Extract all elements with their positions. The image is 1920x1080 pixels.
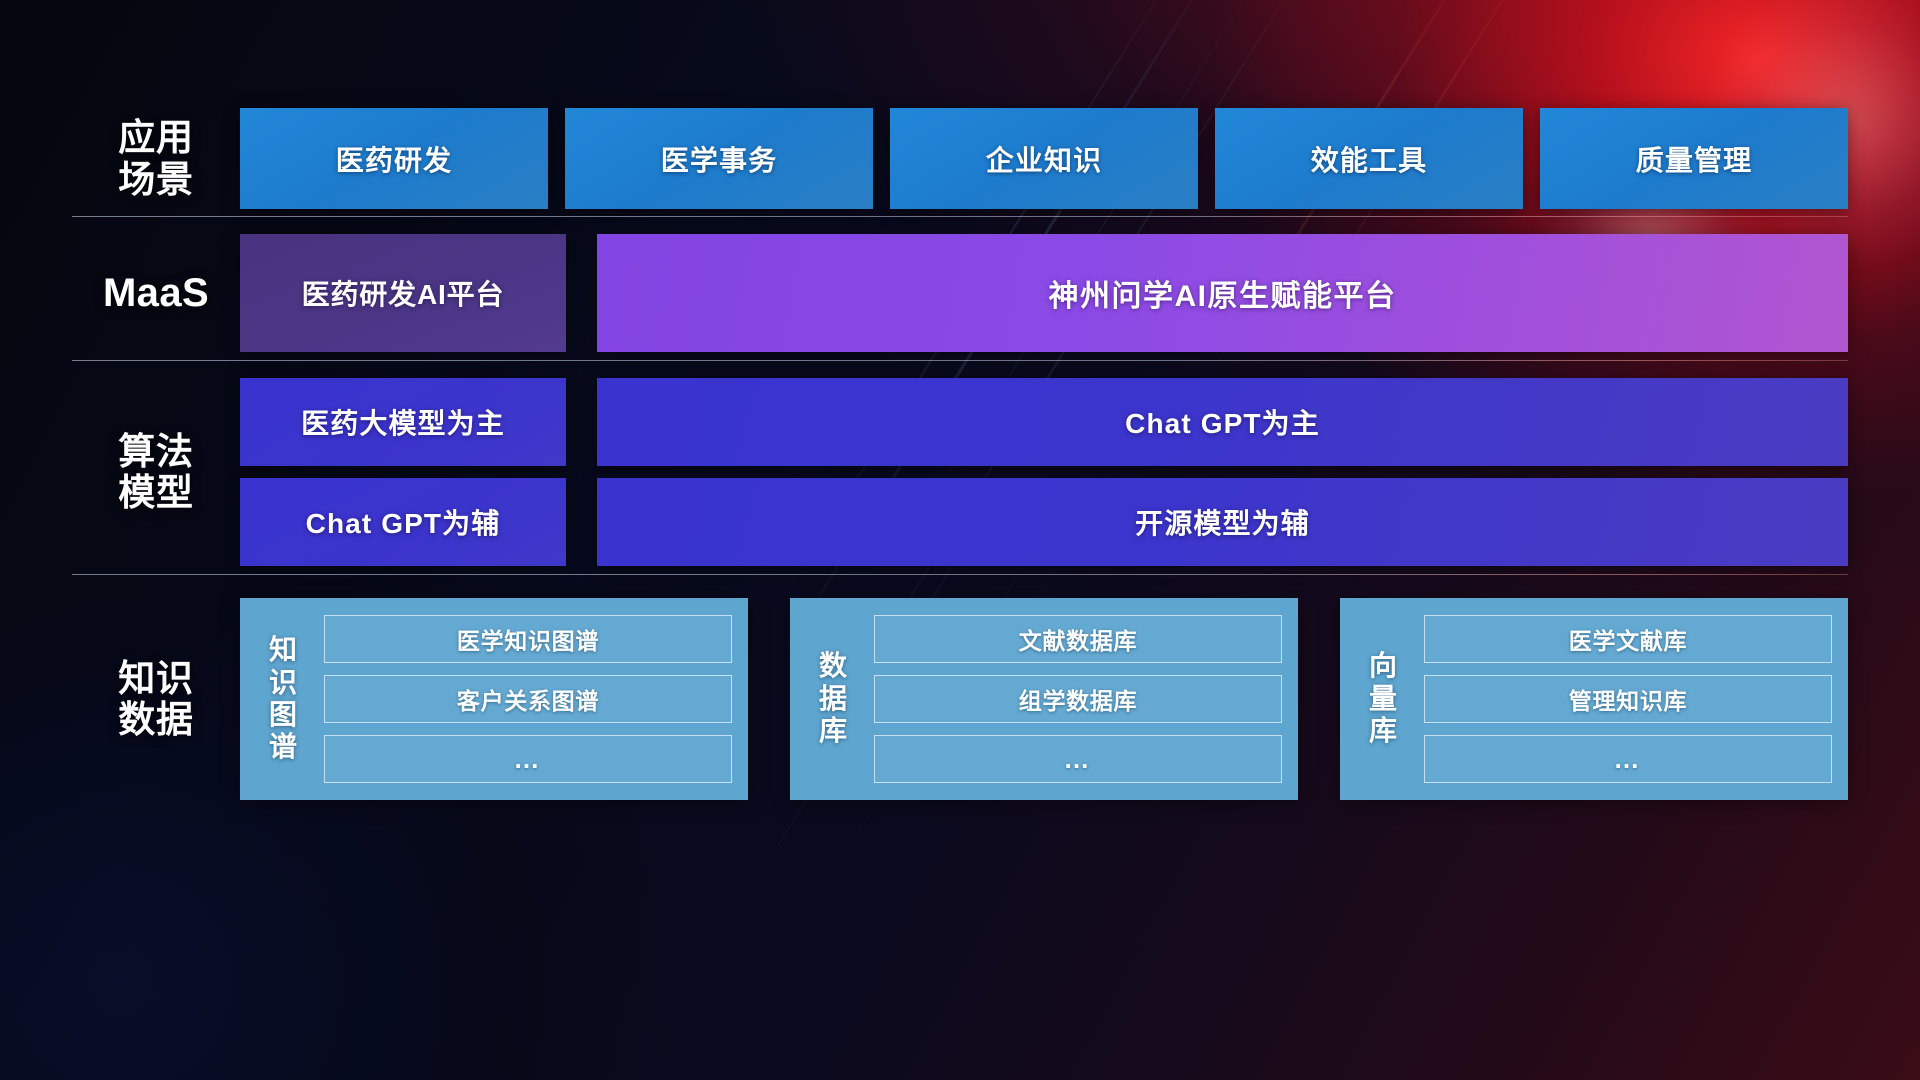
- tier-application-scenarios: 应用 场景 医药研发 医学事务 企业知识 效能工具 质量管理: [72, 108, 1848, 209]
- app-box-efficiency-tools[interactable]: 效能工具: [1215, 108, 1523, 209]
- algorithm-row-primary: 医药大模型为主 Chat GPT为主: [240, 378, 1848, 466]
- knowledge-item-vector-more[interactable]: …: [1424, 735, 1832, 783]
- algo-box-pharma-llm-primary[interactable]: 医药大模型为主: [240, 378, 566, 466]
- knowledge-group-graph-label: 知 识 图 谱: [254, 615, 312, 783]
- divider-after-maas: [72, 360, 1848, 361]
- app-box-quality-management[interactable]: 质量管理: [1540, 108, 1848, 209]
- architecture-diagram: 应用 场景 医药研发 医学事务 企业知识 效能工具 质量管理: [0, 0, 1920, 1080]
- knowledge-item-medical-literature[interactable]: 医学文献库: [1424, 615, 1832, 663]
- knowledge-group-list: 知 识 图 谱 医学知识图谱 客户关系图谱 … 数 据: [240, 598, 1848, 800]
- knowledge-item-omics-db[interactable]: 组学数据库: [874, 675, 1282, 723]
- knowledge-group-vector-label: 向 量 库: [1354, 615, 1412, 783]
- app-box-medicine-rnd[interactable]: 医药研发: [240, 108, 548, 209]
- knowledge-group-database-items: 文献数据库 组学数据库 …: [862, 615, 1282, 783]
- tier-algorithm-models: 算法 模型 医药大模型为主 Chat GPT为主 Chat: [72, 378, 1848, 566]
- maas-box-shenzhou-wenxue-platform[interactable]: 神州问学AI原生赋能平台: [597, 234, 1848, 352]
- maas-box-pharma-ai-platform[interactable]: 医药研发AI平台: [240, 234, 566, 352]
- tier-maas: MaaS 医药研发AI平台 神州问学AI原生赋能平台: [72, 234, 1848, 352]
- divider-after-algorithm: [72, 574, 1848, 575]
- tier-label-knowledge: 知识 数据: [72, 658, 240, 741]
- maas-box-list: 医药研发AI平台 神州问学AI原生赋能平台: [240, 234, 1848, 352]
- knowledge-item-customer-graph[interactable]: 客户关系图谱: [324, 675, 732, 723]
- divider-after-application: [72, 216, 1848, 217]
- application-box-list: 医药研发 医学事务 企业知识 效能工具 质量管理: [240, 108, 1848, 209]
- algo-box-opensource-secondary[interactable]: 开源模型为辅: [597, 478, 1848, 566]
- knowledge-item-literature-db[interactable]: 文献数据库: [874, 615, 1282, 663]
- tier-label-algorithm: 算法 模型: [72, 431, 240, 514]
- tier-label-maas: MaaS: [72, 271, 240, 316]
- knowledge-group-vector: 向 量 库 医学文献库 管理知识库 …: [1340, 598, 1848, 800]
- knowledge-group-vector-items: 医学文献库 管理知识库 …: [1412, 615, 1832, 783]
- algo-box-chatgpt-secondary[interactable]: Chat GPT为辅: [240, 478, 566, 566]
- knowledge-item-medical-graph[interactable]: 医学知识图谱: [324, 615, 732, 663]
- algorithm-row-secondary: Chat GPT为辅 开源模型为辅: [240, 478, 1848, 566]
- knowledge-group-database: 数 据 库 文献数据库 组学数据库 …: [790, 598, 1298, 800]
- knowledge-group-database-label: 数 据 库: [804, 615, 862, 783]
- tier-knowledge-data: 知识 数据 知 识 图 谱 医学知识图谱 客户关系图谱 …: [72, 598, 1848, 800]
- app-box-enterprise-knowledge[interactable]: 企业知识: [890, 108, 1198, 209]
- knowledge-item-database-more[interactable]: …: [874, 735, 1282, 783]
- knowledge-group-graph: 知 识 图 谱 医学知识图谱 客户关系图谱 …: [240, 598, 748, 800]
- algo-box-chatgpt-primary[interactable]: Chat GPT为主: [597, 378, 1848, 466]
- tier-label-application: 应用 场景: [72, 117, 240, 200]
- algorithm-box-list: 医药大模型为主 Chat GPT为主 Chat GPT为辅 开源模型为辅: [240, 378, 1848, 566]
- app-box-medical-affairs[interactable]: 医学事务: [565, 108, 873, 209]
- knowledge-item-management-knowledge[interactable]: 管理知识库: [1424, 675, 1832, 723]
- knowledge-group-graph-items: 医学知识图谱 客户关系图谱 …: [312, 615, 732, 783]
- knowledge-item-graph-more[interactable]: …: [324, 735, 732, 783]
